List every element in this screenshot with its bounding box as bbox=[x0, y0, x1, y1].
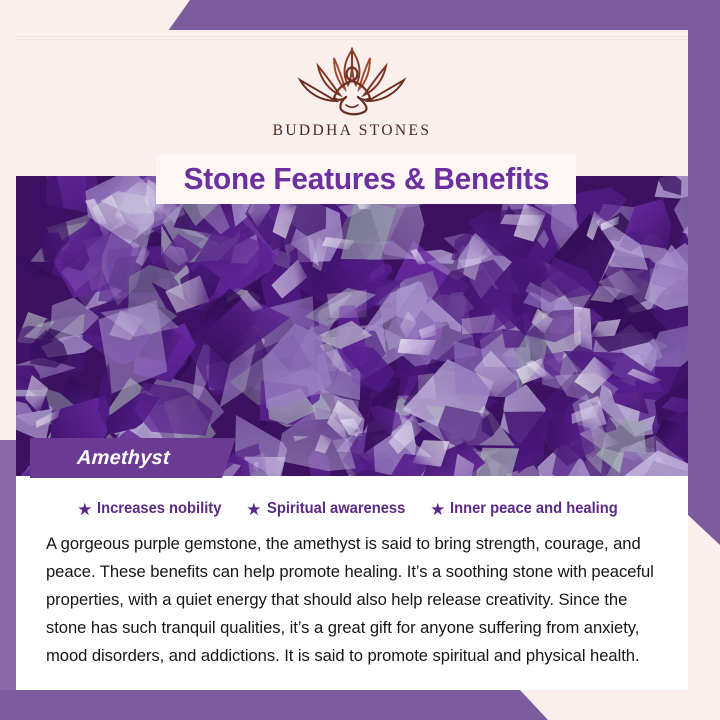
stone-name-banner: Amethyst bbox=[30, 438, 236, 478]
brand-wordmark: BUDDHA STONES bbox=[273, 122, 432, 140]
amethyst-texture bbox=[16, 176, 688, 476]
benefit-label: Increases nobility bbox=[97, 500, 221, 518]
content-card: BUDDHA STONES Stone Features & Benefits … bbox=[16, 30, 688, 690]
stone-description-block: A gorgeous purple gemstone, the amethyst… bbox=[46, 530, 664, 670]
star-icon: ★ bbox=[430, 501, 445, 518]
hero-image bbox=[16, 176, 688, 476]
stone-description: A gorgeous purple gemstone, the amethyst… bbox=[46, 530, 664, 670]
benefit-label: Spiritual awareness bbox=[267, 500, 405, 518]
frame-right-strip bbox=[688, 0, 720, 545]
page-title-plaque: Stone Features & Benefits bbox=[156, 154, 576, 204]
poster-page: BUDDHA STONES Stone Features & Benefits … bbox=[0, 0, 720, 720]
frame-left-strip bbox=[0, 440, 16, 720]
benefit-label: Inner peace and healing bbox=[450, 500, 618, 518]
stone-name: Amethyst bbox=[29, 447, 170, 470]
benefit-item: ★ Inner peace and healing bbox=[430, 500, 627, 518]
page-title: Stone Features & Benefits bbox=[183, 161, 549, 197]
lotus-meditation-icon bbox=[274, 44, 430, 118]
benefit-item: ★ Increases nobility bbox=[77, 500, 228, 518]
benefit-item: ★ Spiritual awareness bbox=[246, 500, 412, 518]
brand-logo: BUDDHA STONES bbox=[16, 44, 688, 140]
frame-bottom-band bbox=[0, 690, 720, 720]
star-icon: ★ bbox=[246, 501, 261, 518]
star-icon: ★ bbox=[77, 501, 92, 518]
benefits-row: ★ Increases nobility ★ Spiritual awarene… bbox=[16, 492, 688, 526]
